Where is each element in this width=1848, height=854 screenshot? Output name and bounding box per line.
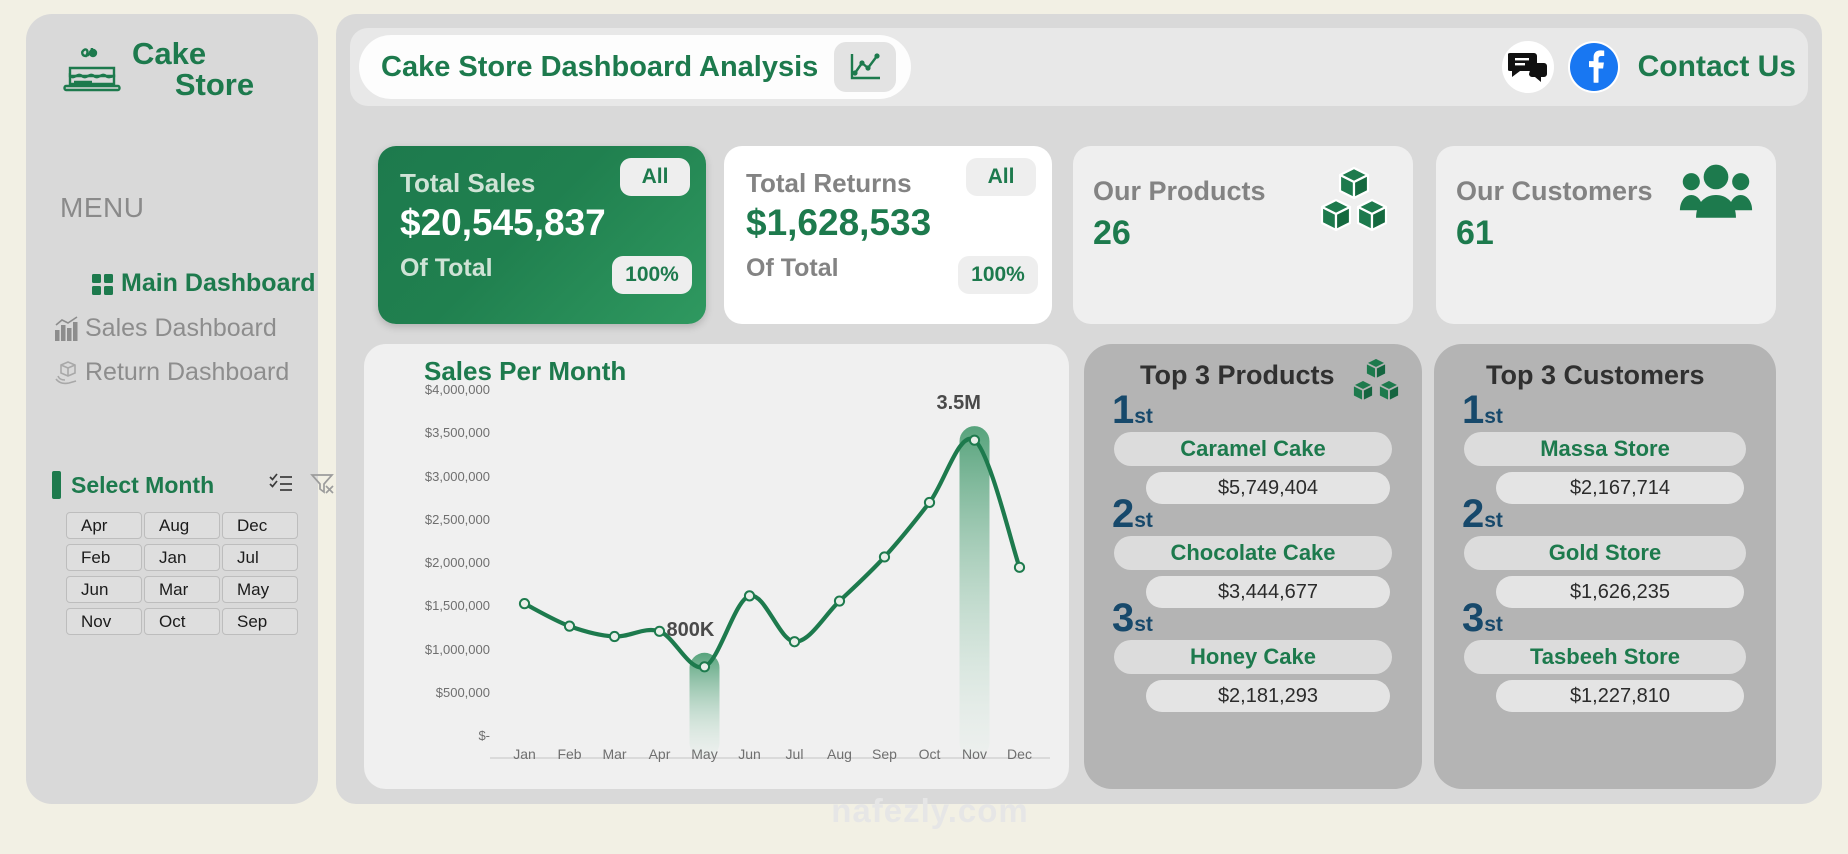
select-month-header: Select Month (52, 470, 292, 500)
rank-suffix: st (1484, 509, 1503, 532)
sidebar: Cake Store MENU Main Dashboard (26, 14, 318, 804)
rank-suffix: st (1134, 405, 1153, 428)
y-axis-tick: $2,500,000 (380, 512, 490, 527)
item-value-pill: $3,444,677 (1146, 576, 1390, 608)
rank-label: 2st (1112, 492, 1153, 537)
kpi-title: Our Products (1093, 176, 1266, 207)
kpi-title: Our Customers (1456, 176, 1653, 207)
sidebar-item-sales-dashboard[interactable]: Sales Dashboard (54, 314, 277, 343)
percent-badge: 100% (612, 256, 692, 294)
data-point-marker[interactable] (610, 632, 619, 641)
kpi-value: 26 (1093, 214, 1131, 253)
x-axis-tick: Feb (547, 746, 593, 762)
item-value-pill: $1,227,810 (1496, 680, 1744, 712)
x-axis-tick: Dec (997, 746, 1043, 762)
x-axis-tick: Jun (727, 746, 773, 762)
dashboard-root: Cake Store MENU Main Dashboard (0, 0, 1848, 854)
y-axis-tick: $4,000,000 (380, 382, 490, 397)
kpi-card-total-returns[interactable]: Total Returns $1,628,533 Of Total All 10… (724, 146, 1052, 324)
rank-number: 3 (1462, 596, 1484, 640)
sidebar-item-label: Sales Dashboard (85, 314, 277, 343)
x-axis-tick: Nov (952, 746, 998, 762)
x-axis-tick: Oct (907, 746, 953, 762)
people-icon (1678, 164, 1754, 231)
data-point-marker[interactable] (835, 596, 844, 605)
x-axis-tick: Apr (637, 746, 683, 762)
month-slicer-grid[interactable]: AprAugDecFebJanJulJunMarMayNovOctSep (66, 512, 298, 635)
kpi-title: Total Sales (400, 168, 535, 199)
filter-badge[interactable]: All (966, 158, 1036, 196)
top-products-panel: Top 3 Products 1stCaram (1084, 344, 1422, 789)
kpi-value: $1,628,533 (746, 202, 931, 244)
kpi-card-our-customers[interactable]: Our Customers 61 (1436, 146, 1776, 324)
rank-number: 3 (1112, 596, 1134, 640)
percent-badge: 100% (958, 256, 1038, 294)
data-point-marker[interactable] (700, 662, 709, 671)
rank-number: 2 (1462, 492, 1484, 536)
kpi-subtitle: Of Total (746, 254, 839, 283)
item-value-pill: $5,749,404 (1146, 472, 1390, 504)
data-point-marker[interactable] (925, 498, 934, 507)
x-axis-tick: Mar (592, 746, 638, 762)
main-panel: Cake Store Dashboard Analysis (336, 14, 1822, 804)
contact-us-label[interactable]: Contact Us (1638, 50, 1796, 84)
header-bar: Cake Store Dashboard Analysis (350, 28, 1808, 106)
data-point-marker[interactable] (880, 552, 889, 561)
boxes-icon (1317, 164, 1391, 243)
y-axis-tick: $3,500,000 (380, 425, 490, 440)
kpi-value: 61 (1456, 214, 1494, 253)
multi-select-icon[interactable] (269, 472, 293, 494)
bar-chart-icon (54, 316, 80, 342)
grid-icon (90, 271, 116, 297)
select-month-title: Select Month (71, 472, 214, 499)
month-cell-nov[interactable]: Nov (66, 608, 142, 635)
month-cell-aug[interactable]: Aug (144, 512, 220, 539)
item-name-pill[interactable]: Caramel Cake (1114, 432, 1392, 466)
sidebar-item-label: Return Dashboard (85, 358, 289, 387)
clear-filter-icon[interactable] (310, 472, 334, 494)
rank-label: 1st (1462, 388, 1503, 433)
sales-line (525, 439, 1020, 668)
kpi-subtitle: Of Total (400, 254, 493, 283)
x-axis-tick: Jul (772, 746, 818, 762)
line-chart-icon[interactable] (834, 42, 896, 92)
brand-line-1: Cake (132, 38, 297, 69)
month-cell-oct[interactable]: Oct (144, 608, 220, 635)
watermark: nafezly.com (800, 792, 1060, 830)
brand-line-2: Store (132, 69, 297, 100)
y-axis-tick: $500,000 (380, 685, 490, 700)
x-axis-tick: Aug (817, 746, 863, 762)
month-cell-jun[interactable]: Jun (66, 576, 142, 603)
month-cell-jan[interactable]: Jan (144, 544, 220, 571)
dashboard-title-pill: Cake Store Dashboard Analysis (359, 35, 911, 99)
month-cell-mar[interactable]: Mar (144, 576, 220, 603)
contact-group[interactable]: Contact Us (1502, 37, 1796, 97)
rank-suffix: st (1484, 613, 1503, 636)
y-axis-tick: $3,000,000 (380, 469, 490, 484)
facebook-icon[interactable] (1568, 41, 1620, 93)
item-value-pill: $2,181,293 (1146, 680, 1390, 712)
rank-label: 1st (1112, 388, 1153, 433)
rank-number: 1 (1112, 388, 1134, 432)
top-customers-panel: Top 3 Customers 1stMassa Store$2,167,714… (1434, 344, 1776, 789)
month-cell-dec[interactable]: Dec (222, 512, 298, 539)
chart-annotation: 3.5M (937, 392, 981, 415)
accent-bar (52, 471, 61, 499)
filter-badge[interactable]: All (620, 158, 690, 196)
data-point-marker[interactable] (1015, 563, 1024, 572)
y-axis-tick: $1,000,000 (380, 642, 490, 657)
rank-number: 2 (1112, 492, 1134, 536)
item-name-pill[interactable]: Massa Store (1464, 432, 1746, 466)
data-point-marker[interactable] (970, 436, 979, 445)
x-axis-tick: May (682, 746, 728, 762)
month-cell-feb[interactable]: Feb (66, 544, 142, 571)
month-cell-may[interactable]: May (222, 576, 298, 603)
kpi-card-total-sales[interactable]: Total Sales $20,545,837 Of Total All 100… (378, 146, 706, 324)
item-value-pill: $1,626,235 (1496, 576, 1744, 608)
month-cell-sep[interactable]: Sep (222, 608, 298, 635)
y-axis-tick: $1,500,000 (380, 598, 490, 613)
rank-label: 3st (1462, 596, 1503, 641)
item-value-pill: $2,167,714 (1496, 472, 1744, 504)
data-point-marker[interactable] (655, 627, 664, 636)
y-axis-tick: $2,000,000 (380, 555, 490, 570)
rank-number: 1 (1462, 388, 1484, 432)
chart-annotation: 800K (667, 619, 715, 642)
sales-per-month-chart-card: Sales Per Month $4,000,000$3,500,000$3,0… (364, 344, 1069, 789)
cake-icon (56, 42, 128, 106)
sidebar-item-main-dashboard[interactable]: Main Dashboard (90, 269, 315, 298)
rank-suffix: st (1134, 613, 1153, 636)
kpi-card-our-products[interactable]: Our Products 26 (1073, 146, 1413, 324)
data-point-marker[interactable] (520, 599, 529, 608)
item-name-pill[interactable]: Chocolate Cake (1114, 536, 1392, 570)
panel-title: Top 3 Products (1140, 360, 1335, 391)
sidebar-item-label: Main Dashboard (121, 269, 315, 298)
data-point-marker[interactable] (745, 591, 754, 600)
highlight-bar (960, 426, 990, 758)
y-axis-tick: $- (380, 728, 490, 743)
slicer-icon-group (269, 472, 334, 494)
item-name-pill[interactable]: Gold Store (1464, 536, 1746, 570)
x-axis-tick: Jan (502, 746, 548, 762)
brand-name: Cake Store (132, 38, 297, 100)
panel-title: Top 3 Customers (1486, 360, 1705, 391)
kpi-title: Total Returns (746, 168, 912, 199)
menu-heading: MENU (60, 192, 144, 224)
rank-suffix: st (1134, 509, 1153, 532)
kpi-value: $20,545,837 (400, 202, 606, 244)
rank-label: 3st (1112, 596, 1153, 641)
month-cell-apr[interactable]: Apr (66, 512, 142, 539)
return-box-icon (54, 360, 80, 386)
rank-suffix: st (1484, 405, 1503, 428)
data-point-marker[interactable] (790, 637, 799, 646)
item-name-pill[interactable]: Honey Cake (1114, 640, 1392, 674)
page-title: Cake Store Dashboard Analysis (381, 51, 818, 84)
x-axis-tick: Sep (862, 746, 908, 762)
month-cell-jul[interactable]: Jul (222, 544, 298, 571)
data-point-marker[interactable] (565, 622, 574, 631)
rank-label: 2st (1462, 492, 1503, 537)
boxes-icon (1350, 356, 1402, 407)
brand-logo: Cake Store (48, 30, 298, 130)
sidebar-item-return-dashboard[interactable]: Return Dashboard (54, 358, 289, 387)
chat-icon[interactable] (1502, 41, 1554, 93)
item-name-pill[interactable]: Tasbeeh Store (1464, 640, 1746, 674)
